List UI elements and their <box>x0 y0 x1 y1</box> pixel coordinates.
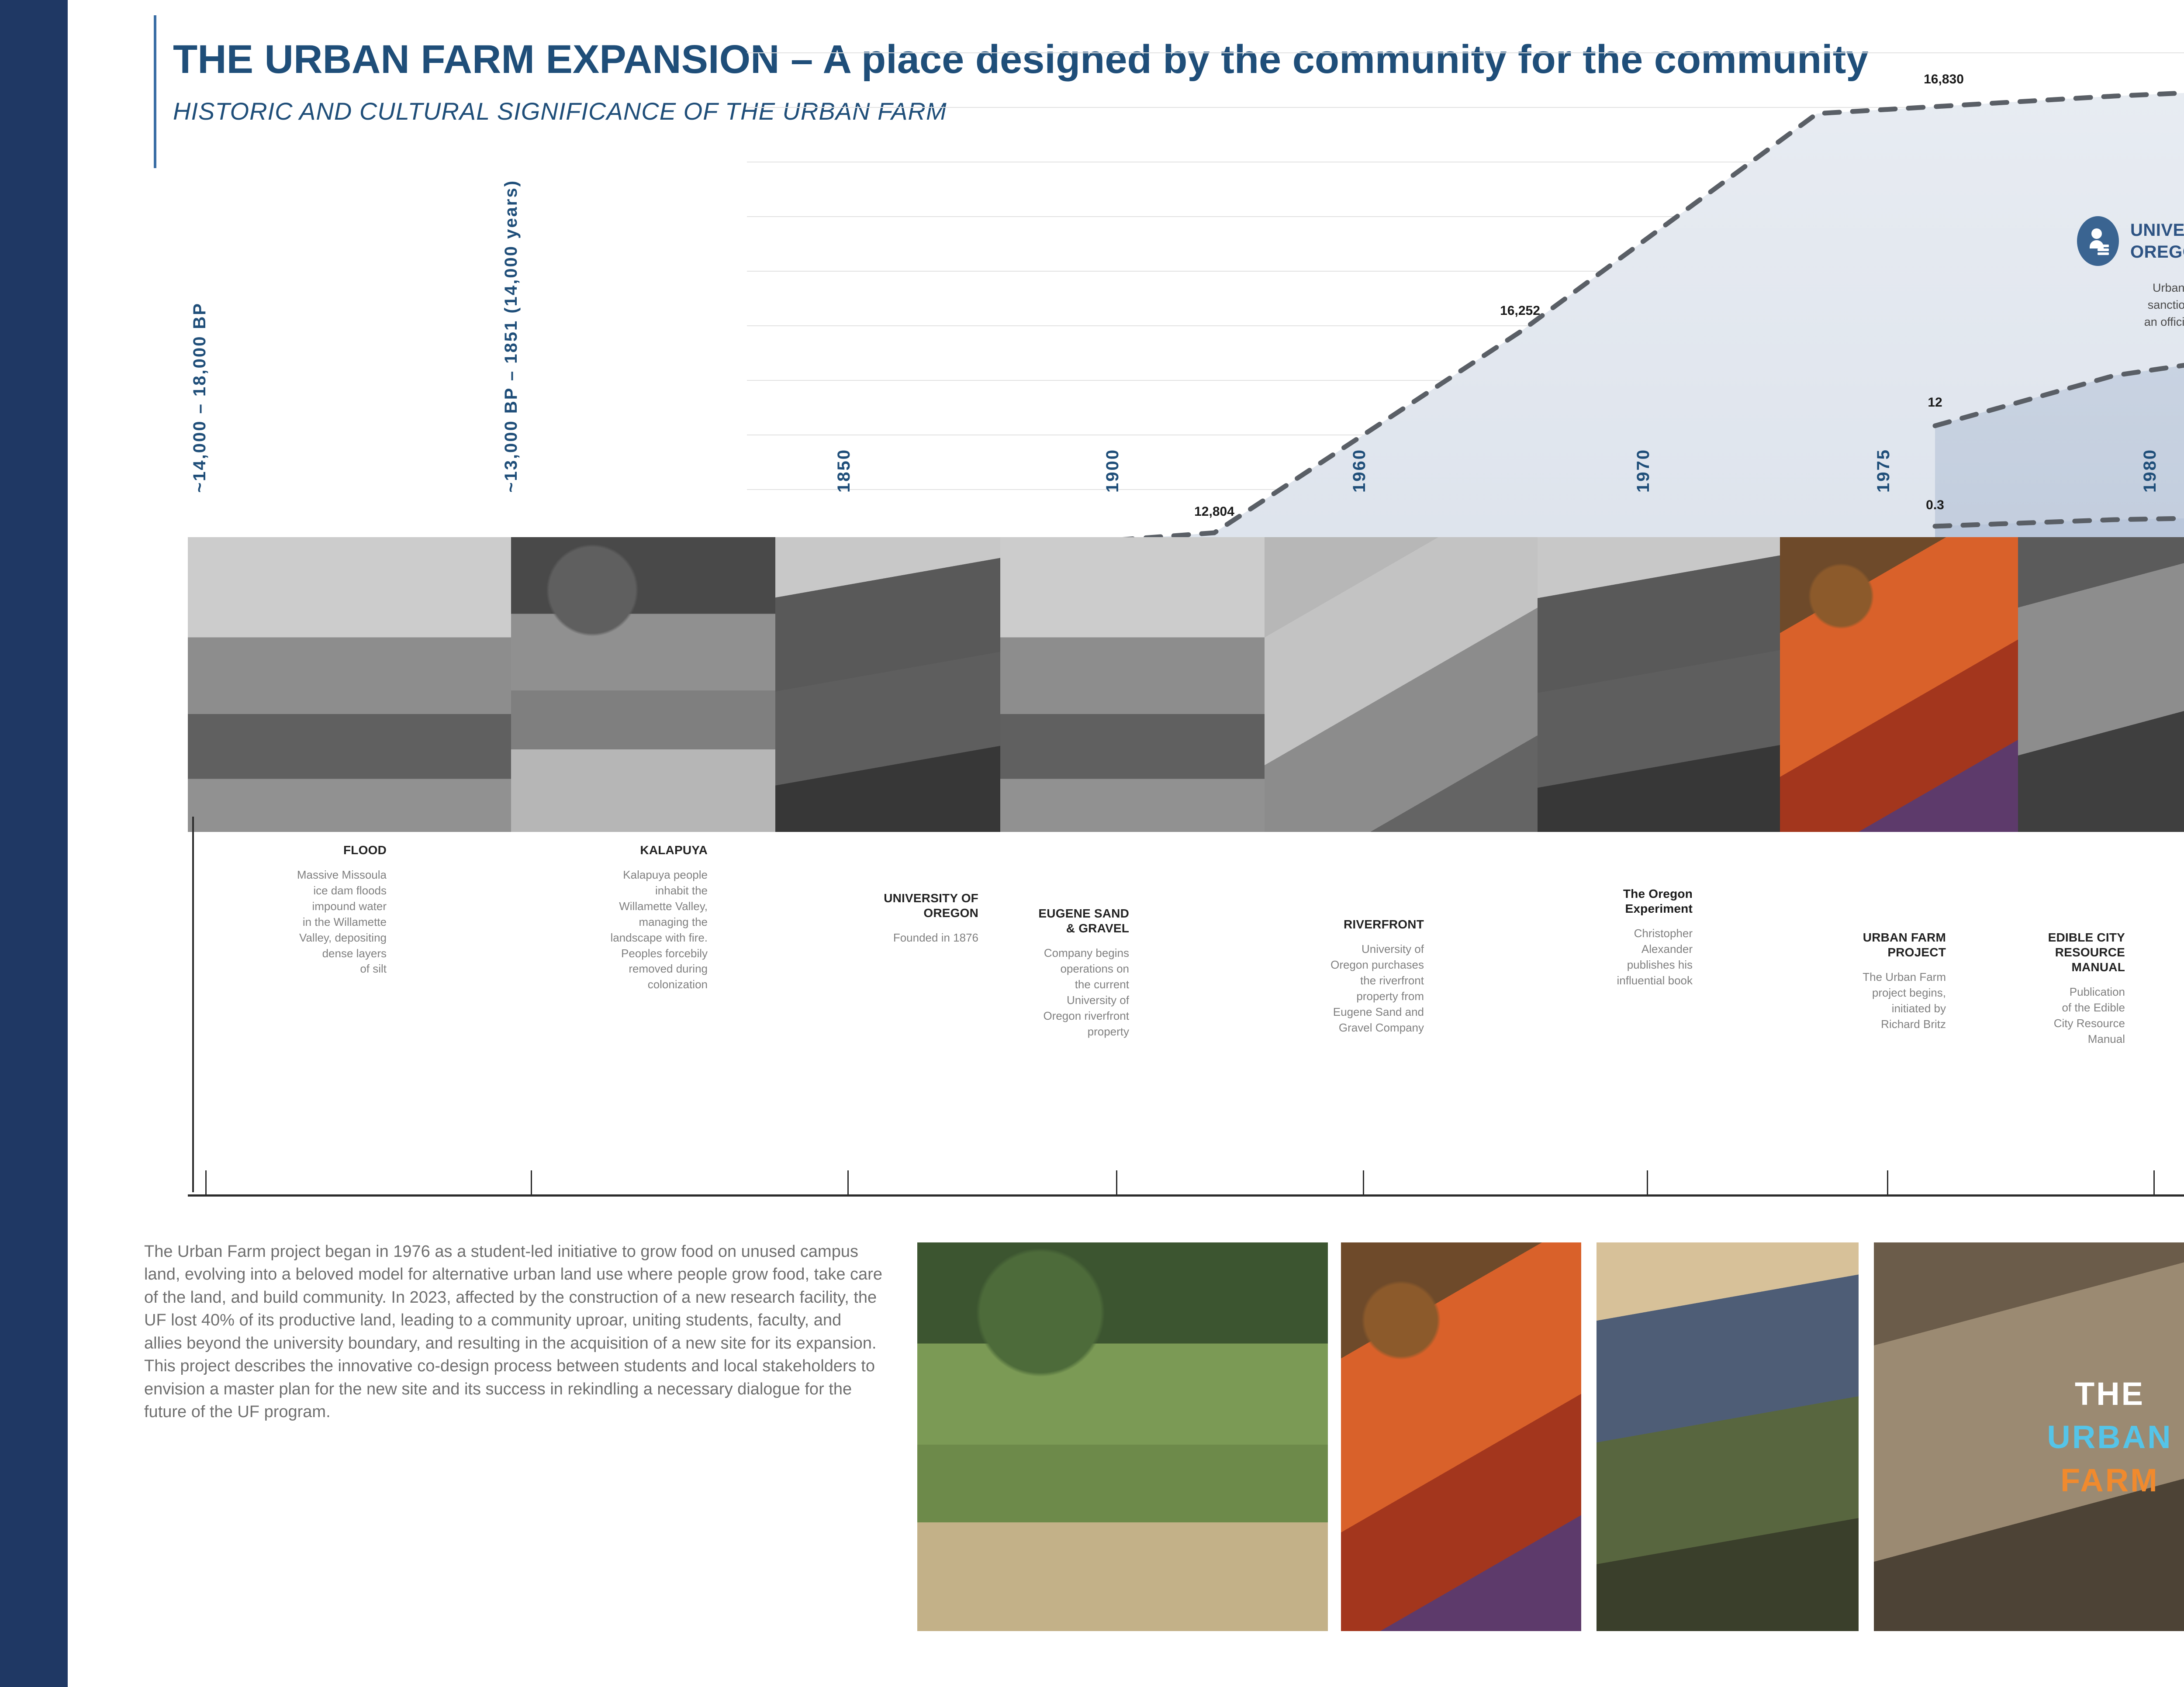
axis-tick <box>847 1170 849 1196</box>
collage-photo-oregon-book <box>1538 537 1787 832</box>
collage-photo-edible-city <box>2018 537 2184 832</box>
event-body: Kalapuya people inhabit the Willamette V… <box>577 867 708 993</box>
event-body: The Urban Farm project begins, initiated… <box>1826 969 1946 1032</box>
axis-tick <box>1116 1170 1117 1196</box>
student-icon <box>2077 216 2119 266</box>
value-label-uo-16830: 16,830 <box>1924 72 1964 87</box>
x-tick-label-1850: 1850 <box>834 448 854 493</box>
value-label-uo-16252: 16,252 <box>1500 304 1540 318</box>
bottom-photo-harvest-crew <box>1597 1242 1859 1631</box>
event-body: Massive Missoula ice dam floods impound … <box>260 867 387 977</box>
event-body: Founded in 1876 <box>856 930 978 946</box>
sign-text-farm: FARM <box>2060 1462 2159 1499</box>
project-summary-paragraph: The Urban Farm project began in 1976 as … <box>144 1240 882 1424</box>
event-edible-city-resource-manual: EDIBLE CITY RESOURCE MANUAL Publication … <box>2009 930 2125 1047</box>
timeline-events: FLOOD Massive Missoula ice dam floods im… <box>0 843 2184 1114</box>
x-tick-label-1900: 1900 <box>1103 448 1123 493</box>
event-oregon-experiment: The Oregon Experiment Christopher Alexan… <box>1572 887 1693 989</box>
event-title: RIVERFRONT <box>1293 917 1424 932</box>
event-body: Christopher Alexander publishes his infl… <box>1572 926 1693 989</box>
x-tick-label-14000bp: ~14,000 – 18,000 BP <box>190 302 210 493</box>
bottom-photo-strip: THE URBAN FARM <box>917 1242 2184 1631</box>
axis-tick <box>1363 1170 1364 1196</box>
event-title: UNIVERSITY OF OREGON <box>856 891 978 921</box>
x-tick-label-13000bp: ~13,000 BP – 1851 (14,000 years) <box>502 179 520 493</box>
axis-tick <box>2153 1170 2155 1196</box>
x-tick-label-1960: 1960 <box>1350 448 1369 493</box>
urban-farm-barn-sign: THE URBAN FARM <box>1874 1242 2184 1631</box>
event-flood: FLOOD Massive Missoula ice dam floods im… <box>260 843 387 977</box>
collage-photo-flood <box>188 537 520 832</box>
event-body: University of Oregon purchases the river… <box>1293 942 1424 1035</box>
event-eugene-sand-gravel: EUGENE SAND & GRAVEL Company begins oper… <box>1005 906 1129 1040</box>
event-urban-farm-project: URBAN FARM PROJECT The Urban Farm projec… <box>1826 930 1946 1032</box>
event-title: EDIBLE CITY RESOURCE MANUAL <box>2009 930 2125 975</box>
collage-photo-sand-gravel <box>1000 537 1271 832</box>
collage-photo-riverfront <box>1265 537 1544 832</box>
event-university-of-oregon: UNIVERSITY OF OREGON Founded in 1876 <box>856 891 978 946</box>
x-tick-label-1970: 1970 <box>1634 448 1653 493</box>
title-accent-rule <box>154 15 156 168</box>
bottom-photo-gathering <box>917 1242 1328 1631</box>
event-title: URBAN FARM PROJECT <box>1826 930 1946 960</box>
event-title: FLOOD <box>260 843 387 858</box>
x-tick-label-1980: 1980 <box>2140 448 2160 493</box>
collage-photo-kalapuya <box>511 537 782 832</box>
legend-uo-enrollment-label: UNIVERSITY OF OREGON ENROLLMENT <box>2130 219 2184 263</box>
collage-photo-university <box>775 537 1007 832</box>
legend-uo-line2: OREGON ENROLLMENT <box>2130 241 2184 263</box>
value-label-acres-0-3: 0.3 <box>1926 498 1944 513</box>
sign-text-the: THE <box>2075 1375 2145 1412</box>
y-axis-line <box>192 817 194 1192</box>
axis-tick <box>1887 1170 1888 1196</box>
value-label-ufe-12: 12 <box>1928 395 1942 410</box>
annotation-sanctioned-class: Urban Farm sanctioned as an official cla… <box>2118 279 2184 331</box>
event-body: Company begins operations on the current… <box>1005 945 1129 1039</box>
x-tick-label-1975: 1975 <box>1874 448 1894 493</box>
x-axis-line <box>188 1194 2184 1197</box>
bottom-photo-tiedye-students <box>1341 1242 1581 1631</box>
value-label-uo-12804: 12,804 <box>1194 504 1234 519</box>
axis-tick <box>531 1170 532 1196</box>
historical-photo-collage: THE URBAN FARM <box>188 537 2184 832</box>
event-kalapuya: KALAPUYA Kalapuya people inhabit the Wil… <box>577 843 708 993</box>
event-riverfront: RIVERFRONT University of Oregon purchase… <box>1293 917 1424 1035</box>
legend-uo-line1: UNIVERSITY OF <box>2130 219 2184 241</box>
bottom-photo-urban-farm-sign: THE URBAN FARM <box>1874 1242 2184 1631</box>
event-body: Publication of the Edible City Resource … <box>2009 984 2125 1047</box>
axis-tick <box>1647 1170 1648 1196</box>
axis-tick <box>205 1170 207 1196</box>
collage-photo-britz <box>1780 537 2025 832</box>
event-title: EUGENE SAND & GRAVEL <box>1005 906 1129 936</box>
legend-uo-enrollment[interactable]: UNIVERSITY OF OREGON ENROLLMENT <box>2077 216 2184 266</box>
sign-text-urban: URBAN <box>2047 1418 2172 1456</box>
event-title: The Oregon Experiment <box>1572 887 1693 916</box>
event-title: KALAPUYA <box>577 843 708 858</box>
